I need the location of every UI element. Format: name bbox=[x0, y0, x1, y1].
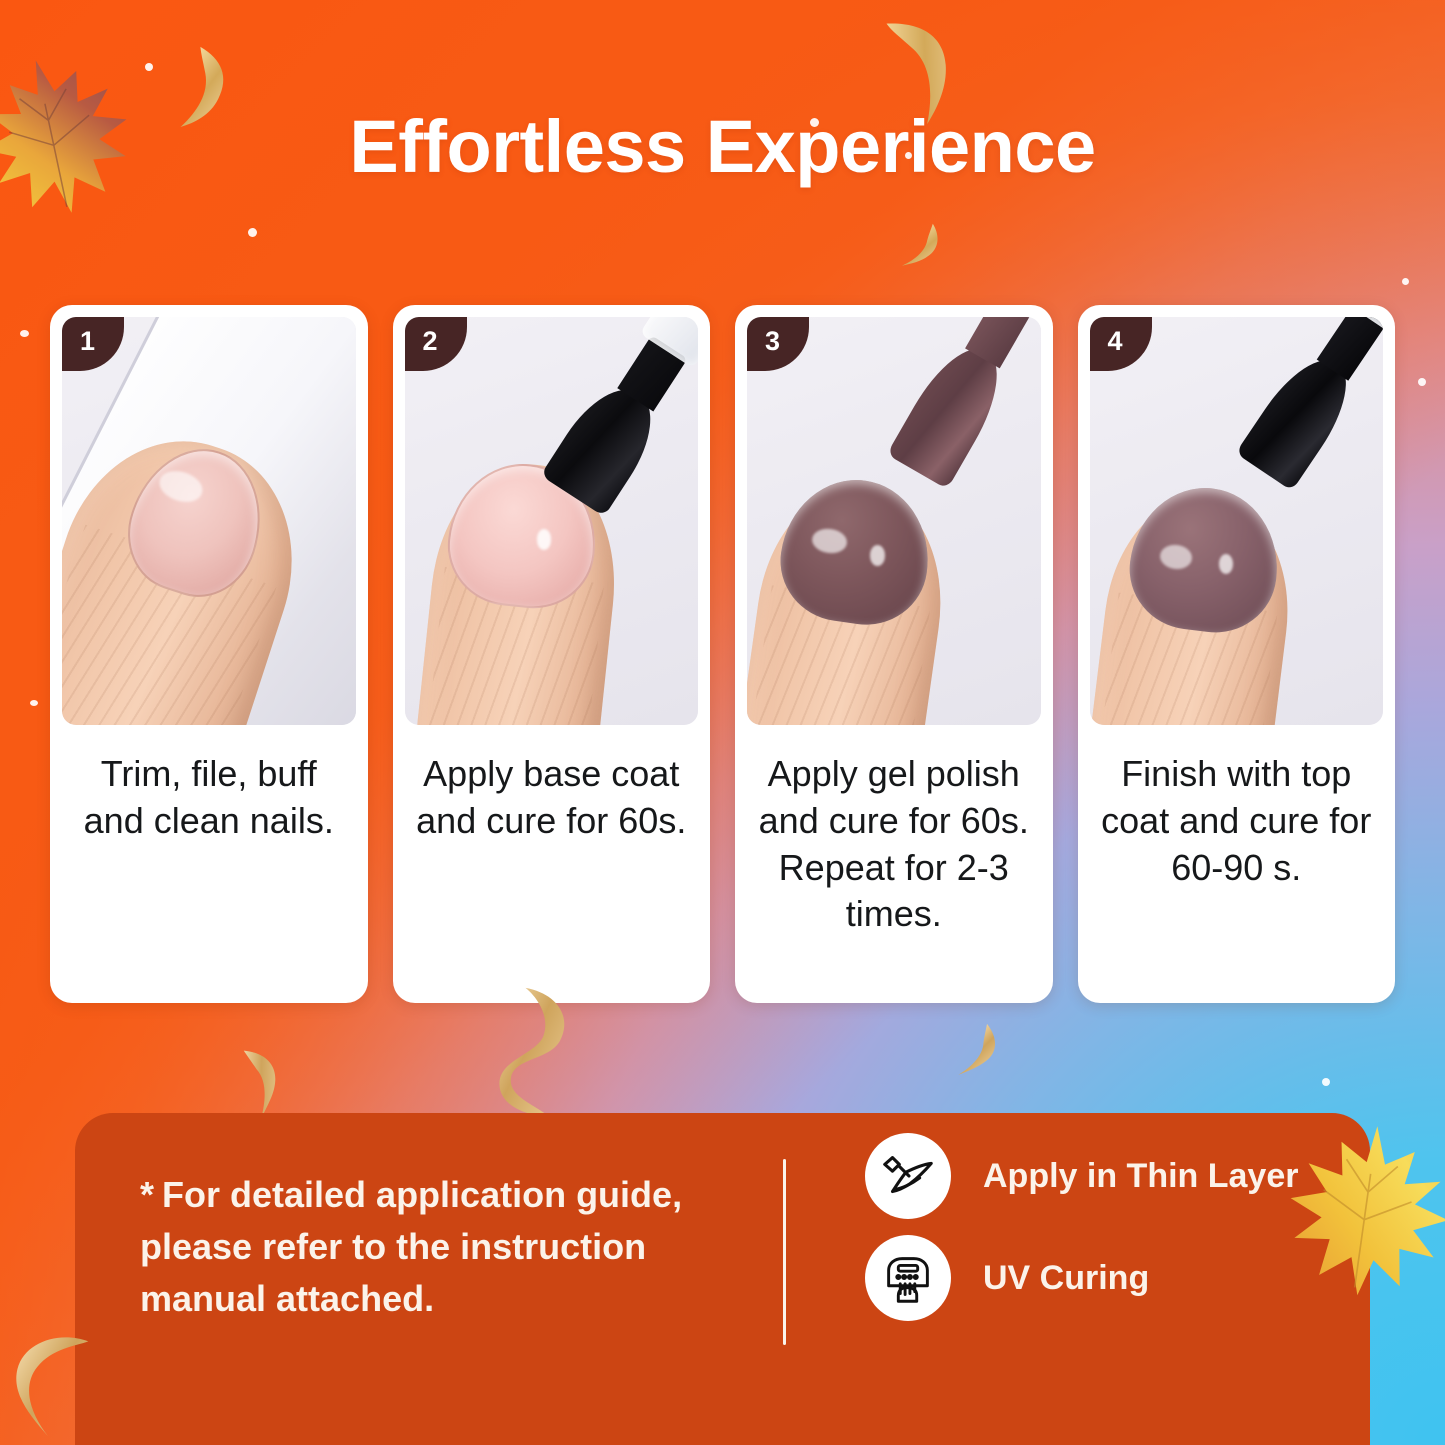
confetti-speck bbox=[1322, 1078, 1330, 1086]
feature-label: UV Curing bbox=[983, 1259, 1149, 1298]
confetti-speck bbox=[145, 63, 153, 71]
step-4-caption: Finish with top coat and cure for 60-90 … bbox=[1090, 725, 1384, 1003]
step-1-caption: Trim, file, buff and clean nails. bbox=[62, 725, 356, 1003]
feature-label: Apply in Thin Layer bbox=[983, 1157, 1298, 1196]
step-2-caption: Apply base coat and cure for 60s. bbox=[405, 725, 699, 1003]
confetti-speck bbox=[1418, 378, 1426, 386]
confetti-speck bbox=[248, 228, 257, 237]
base-coat-scene bbox=[405, 317, 699, 725]
feature-apply-in-thin-layer: Apply in Thin Layer bbox=[865, 1133, 1298, 1219]
feature-uv-curing: UV Curing bbox=[865, 1235, 1298, 1321]
step-4-photo: 4 bbox=[1090, 317, 1384, 725]
page-title: Effortless Experience bbox=[0, 110, 1445, 184]
uv-lamp-icon bbox=[865, 1235, 951, 1321]
bare-nail-scene bbox=[62, 317, 356, 725]
poster-canvas: Effortless Experience 1 Trim, file, buf bbox=[0, 0, 1445, 1445]
steps-grid: 1 Trim, file, buff and clean nails. bbox=[50, 305, 1395, 1003]
step-number-2: 2 bbox=[423, 328, 438, 355]
banner-note: *For detailed application guide, please … bbox=[140, 1169, 750, 1326]
nail-highlight bbox=[870, 545, 885, 565]
step-number-3: 3 bbox=[765, 328, 780, 355]
gold-ribbon-icon-right-mid bbox=[949, 1015, 1020, 1095]
bottom-banner: *For detailed application guide, please … bbox=[75, 1113, 1370, 1445]
gold-ribbon-icon-top-right-2 bbox=[892, 215, 961, 289]
step-card-3[interactable]: 3 Apply gel polish and cure for 60s. Rep… bbox=[735, 305, 1053, 1003]
asterisk: * bbox=[140, 1174, 154, 1215]
step-number-1: 1 bbox=[80, 328, 95, 355]
gel-polish-scene bbox=[747, 317, 1041, 725]
gold-ribbon-icon-left-mid bbox=[232, 1036, 305, 1124]
feature-list: Apply in Thin Layer bbox=[865, 1133, 1298, 1321]
step-2-photo: 2 bbox=[405, 317, 699, 725]
nail-highlight bbox=[537, 529, 552, 549]
confetti-speck bbox=[20, 330, 29, 337]
banner-note-text: For detailed application guide, please r… bbox=[140, 1174, 682, 1319]
step-3-caption: Apply gel polish and cure for 60s. Repea… bbox=[747, 725, 1041, 1003]
step-number-4: 4 bbox=[1108, 328, 1123, 355]
brush-icon bbox=[865, 1133, 951, 1219]
step-card-2[interactable]: 2 Apply base coat and cure for 60s. bbox=[393, 305, 711, 1003]
confetti-speck bbox=[30, 700, 38, 706]
confetti-speck bbox=[1402, 278, 1409, 285]
step-3-photo: 3 bbox=[747, 317, 1041, 725]
banner-divider bbox=[783, 1159, 786, 1345]
step-card-1[interactable]: 1 Trim, file, buff and clean nails. bbox=[50, 305, 368, 1003]
top-coat-scene bbox=[1090, 317, 1384, 725]
step-card-4[interactable]: 4 Finish with top coat and cure for 60-9… bbox=[1078, 305, 1396, 1003]
step-1-photo: 1 bbox=[62, 317, 356, 725]
gold-ribbon-icon-center bbox=[495, 985, 585, 1130]
